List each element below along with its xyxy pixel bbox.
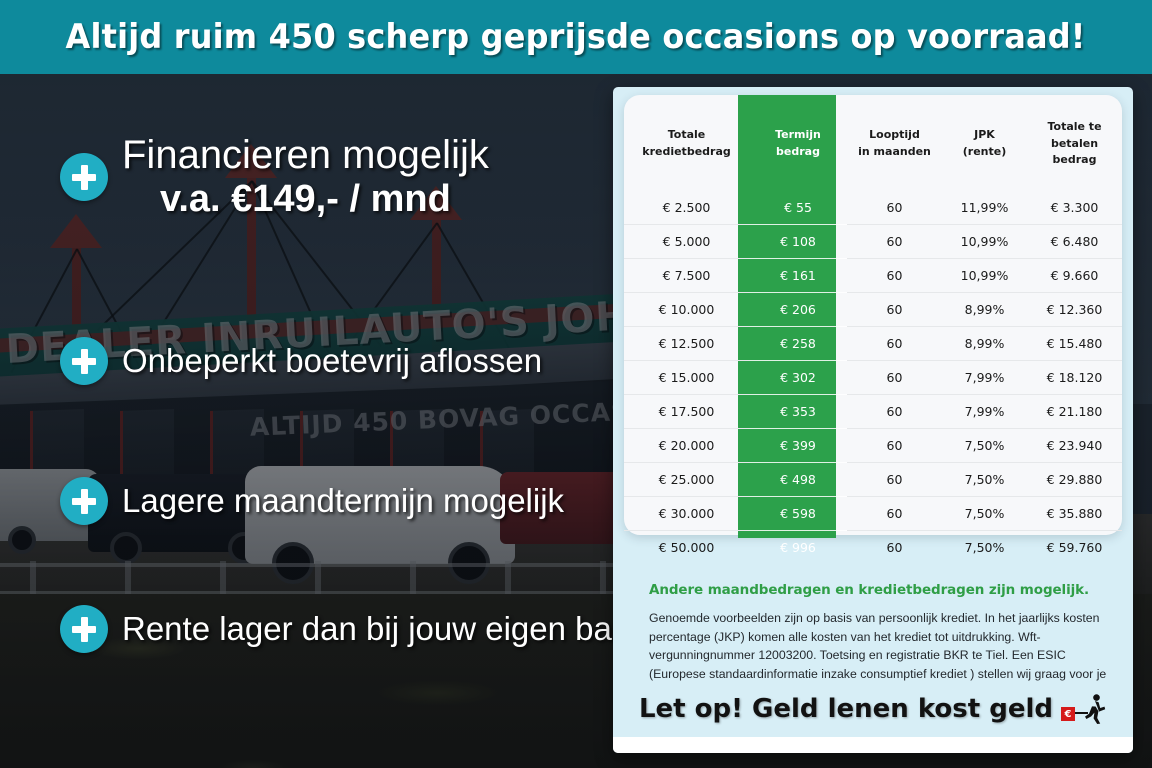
cell-installment: € 55 (749, 191, 847, 225)
cell-total-credit: € 20.000 (624, 428, 749, 462)
warning-text: Let op! Geld lenen kost geld (639, 694, 1053, 724)
col-header-line: JPK (974, 128, 995, 141)
cell-duration: 60 (847, 191, 942, 225)
cell-total-credit: € 2.500 (624, 191, 749, 225)
promo-banner: Altijd ruim 450 scherp geprijsde occasio… (0, 0, 1152, 74)
cell-total-payable: € 35.880 (1027, 496, 1122, 530)
fineprint-heading: Andere maandbedragen en kredietbedragen … (649, 582, 1109, 598)
cell-duration: 60 (847, 428, 942, 462)
cell-installment: € 108 (749, 224, 847, 258)
col-header-line: (rente) (963, 145, 1007, 158)
cell-apr: 7,50% (942, 462, 1027, 496)
cell-total-payable: € 59.760 (1027, 530, 1122, 564)
cell-total-credit: € 10.000 (624, 292, 749, 326)
cell-apr: 8,99% (942, 292, 1027, 326)
loan-table-body: € 2.500€ 556011,99%€ 3.300€ 5.000€ 10860… (624, 191, 1122, 564)
cell-apr: 8,99% (942, 326, 1027, 360)
benefit-item-lower-rate: Rente lager dan bij jouw eigen bank (60, 605, 647, 653)
cell-total-payable: € 29.880 (1027, 462, 1122, 496)
table-row: € 20.000€ 399607,50%€ 23.940 (624, 428, 1122, 462)
loan-table: Totale kredietbedrag Termijn bedrag Loop… (624, 95, 1122, 564)
table-row: € 2.500€ 556011,99%€ 3.300 (624, 191, 1122, 225)
cell-total-credit: € 50.000 (624, 530, 749, 564)
cell-total-credit: € 17.500 (624, 394, 749, 428)
cell-total-credit: € 30.000 (624, 496, 749, 530)
benefit-item-lower-installment: Lagere maandtermijn mogelijk (60, 477, 564, 525)
table-row: € 25.000€ 498607,50%€ 29.880 (624, 462, 1122, 496)
plus-circle-icon (60, 153, 108, 201)
benefit-text: Onbeperkt boetevrij aflossen (122, 342, 542, 380)
cell-total-credit: € 7.500 (624, 258, 749, 292)
cell-installment: € 996 (749, 530, 847, 564)
table-header-row: Totale kredietbedrag Termijn bedrag Loop… (624, 95, 1122, 191)
cell-apr: 7,99% (942, 394, 1027, 428)
benefit-line-1: Financieren mogelijk (122, 132, 489, 178)
benefit-item-early-repayment: Onbeperkt boetevrij aflossen (60, 337, 542, 385)
table-row: € 12.500€ 258608,99%€ 15.480 (624, 326, 1122, 360)
cell-total-payable: € 21.180 (1027, 394, 1122, 428)
cell-total-payable: € 3.300 (1027, 191, 1122, 225)
table-row: € 50.000€ 996607,50%€ 59.760 (624, 530, 1122, 564)
cell-installment: € 598 (749, 496, 847, 530)
cell-total-payable: € 12.360 (1027, 292, 1122, 326)
cell-apr: 7,99% (942, 360, 1027, 394)
cell-total-payable: € 18.120 (1027, 360, 1122, 394)
table-row: € 17.500€ 353607,99%€ 21.180 (624, 394, 1122, 428)
cell-duration: 60 (847, 360, 942, 394)
promo-banner-text: Altijd ruim 450 scherp geprijsde occasio… (66, 17, 1086, 57)
cell-total-credit: € 25.000 (624, 462, 749, 496)
cell-installment: € 161 (749, 258, 847, 292)
plus-circle-icon (60, 605, 108, 653)
plus-circle-icon (60, 477, 108, 525)
cell-installment: € 353 (749, 394, 847, 428)
plus-circle-icon (60, 337, 108, 385)
cell-duration: 60 (847, 292, 942, 326)
warning-bar: Let op! Geld lenen kost geld € (613, 683, 1133, 735)
benefit-item-financing: Financieren mogelijk v.a. €149,- / mnd (60, 132, 489, 222)
table-row: € 15.000€ 302607,99%€ 18.120 (624, 360, 1122, 394)
col-header-line: Looptijd (869, 128, 920, 141)
loan-table-head: Totale kredietbedrag Termijn bedrag Loop… (624, 95, 1122, 191)
cell-duration: 60 (847, 224, 942, 258)
col-header-line: Totale (668, 128, 706, 141)
cell-apr: 7,50% (942, 496, 1027, 530)
table-row: € 5.000€ 1086010,99%€ 6.480 (624, 224, 1122, 258)
cell-duration: 60 (847, 462, 942, 496)
col-header-line: betalen bedrag (1051, 137, 1098, 167)
cell-installment: € 302 (749, 360, 847, 394)
money-warning-icon: € (1061, 694, 1107, 724)
cell-installment: € 498 (749, 462, 847, 496)
cell-total-payable: € 23.940 (1027, 428, 1122, 462)
cell-apr: 7,50% (942, 530, 1027, 564)
loan-info-panel: Totale kredietbedrag Termijn bedrag Loop… (613, 87, 1133, 753)
cell-total-credit: € 5.000 (624, 224, 749, 258)
col-header-line: kredietbedrag (642, 145, 731, 158)
benefit-text: Financieren mogelijk v.a. €149,- / mnd (122, 132, 489, 222)
cell-total-credit: € 15.000 (624, 360, 749, 394)
panel-bottom-strip (613, 737, 1133, 753)
table-row: € 7.500€ 1616010,99%€ 9.660 (624, 258, 1122, 292)
cell-apr: 10,99% (942, 224, 1027, 258)
euro-box-icon: € (1061, 707, 1075, 721)
table-row: € 10.000€ 206608,99%€ 12.360 (624, 292, 1122, 326)
cell-duration: 60 (847, 394, 942, 428)
cell-total-payable: € 6.480 (1027, 224, 1122, 258)
col-header-line: Totale te (1047, 120, 1101, 133)
col-header-line: in maanden (858, 145, 931, 158)
cell-apr: 7,50% (942, 428, 1027, 462)
col-header-total-payable: Totale te betalen bedrag (1027, 95, 1122, 191)
cell-duration: 60 (847, 258, 942, 292)
col-header-line: Termijn (775, 128, 821, 141)
cell-total-credit: € 12.500 (624, 326, 749, 360)
walking-man-icon (1083, 694, 1107, 724)
benefit-text: Rente lager dan bij jouw eigen bank (122, 610, 647, 648)
cell-duration: 60 (847, 496, 942, 530)
col-header-installment: Termijn bedrag (749, 95, 847, 191)
col-header-duration: Looptijd in maanden (847, 95, 942, 191)
cell-duration: 60 (847, 530, 942, 564)
benefit-text: Lagere maandtermijn mogelijk (122, 482, 564, 520)
cell-installment: € 258 (749, 326, 847, 360)
cell-installment: € 399 (749, 428, 847, 462)
cell-total-payable: € 9.660 (1027, 258, 1122, 292)
cell-apr: 11,99% (942, 191, 1027, 225)
benefit-line-2: v.a. €149,- / mnd (122, 178, 489, 222)
cell-apr: 10,99% (942, 258, 1027, 292)
col-header-total-credit: Totale kredietbedrag (624, 95, 749, 191)
benefits-list: Financieren mogelijk v.a. €149,- / mnd O… (0, 74, 620, 768)
cell-duration: 60 (847, 326, 942, 360)
col-header-line: bedrag (776, 145, 820, 158)
col-header-apr: JPK (rente) (942, 95, 1027, 191)
table-row: € 30.000€ 598607,50%€ 35.880 (624, 496, 1122, 530)
cell-installment: € 206 (749, 292, 847, 326)
cell-total-payable: € 15.480 (1027, 326, 1122, 360)
